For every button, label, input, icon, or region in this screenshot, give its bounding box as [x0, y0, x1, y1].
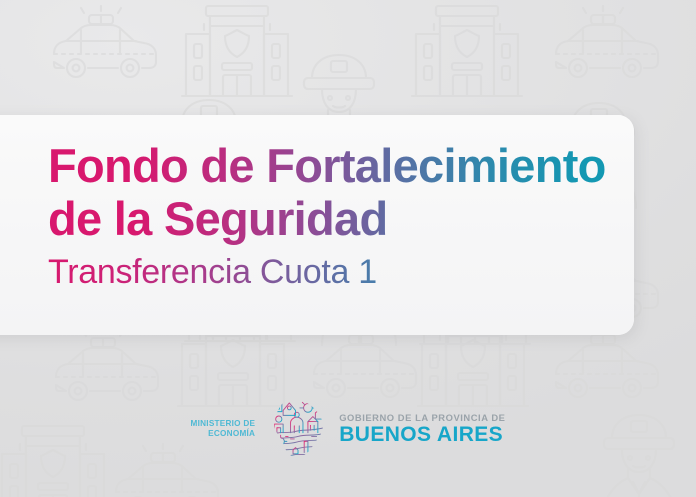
page-title: Fondo de Fortalecimiento de la Seguridad: [48, 140, 648, 245]
provincia-buenos-aires-crest-icon: [267, 398, 329, 460]
headline-block: Fondo de Fortalecimiento de la Seguridad…: [48, 140, 648, 292]
page-subtitle: Transferencia Cuota 1: [48, 253, 648, 292]
government-wordmark: GOBIERNO DE LA PROVINCIA DE BUENOS AIRES: [329, 413, 505, 445]
ministry-label: MINISTERIO DE ECONOMÍA: [191, 419, 268, 440]
poster-canvas: Fondo de Fortalecimiento de la Seguridad…: [0, 0, 696, 497]
government-title: BUENOS AIRES: [339, 424, 505, 445]
footer-logo-lockup: MINISTERIO DE ECONOMÍA: [0, 398, 696, 460]
government-subtitle: GOBIERNO DE LA PROVINCIA DE: [339, 413, 505, 422]
